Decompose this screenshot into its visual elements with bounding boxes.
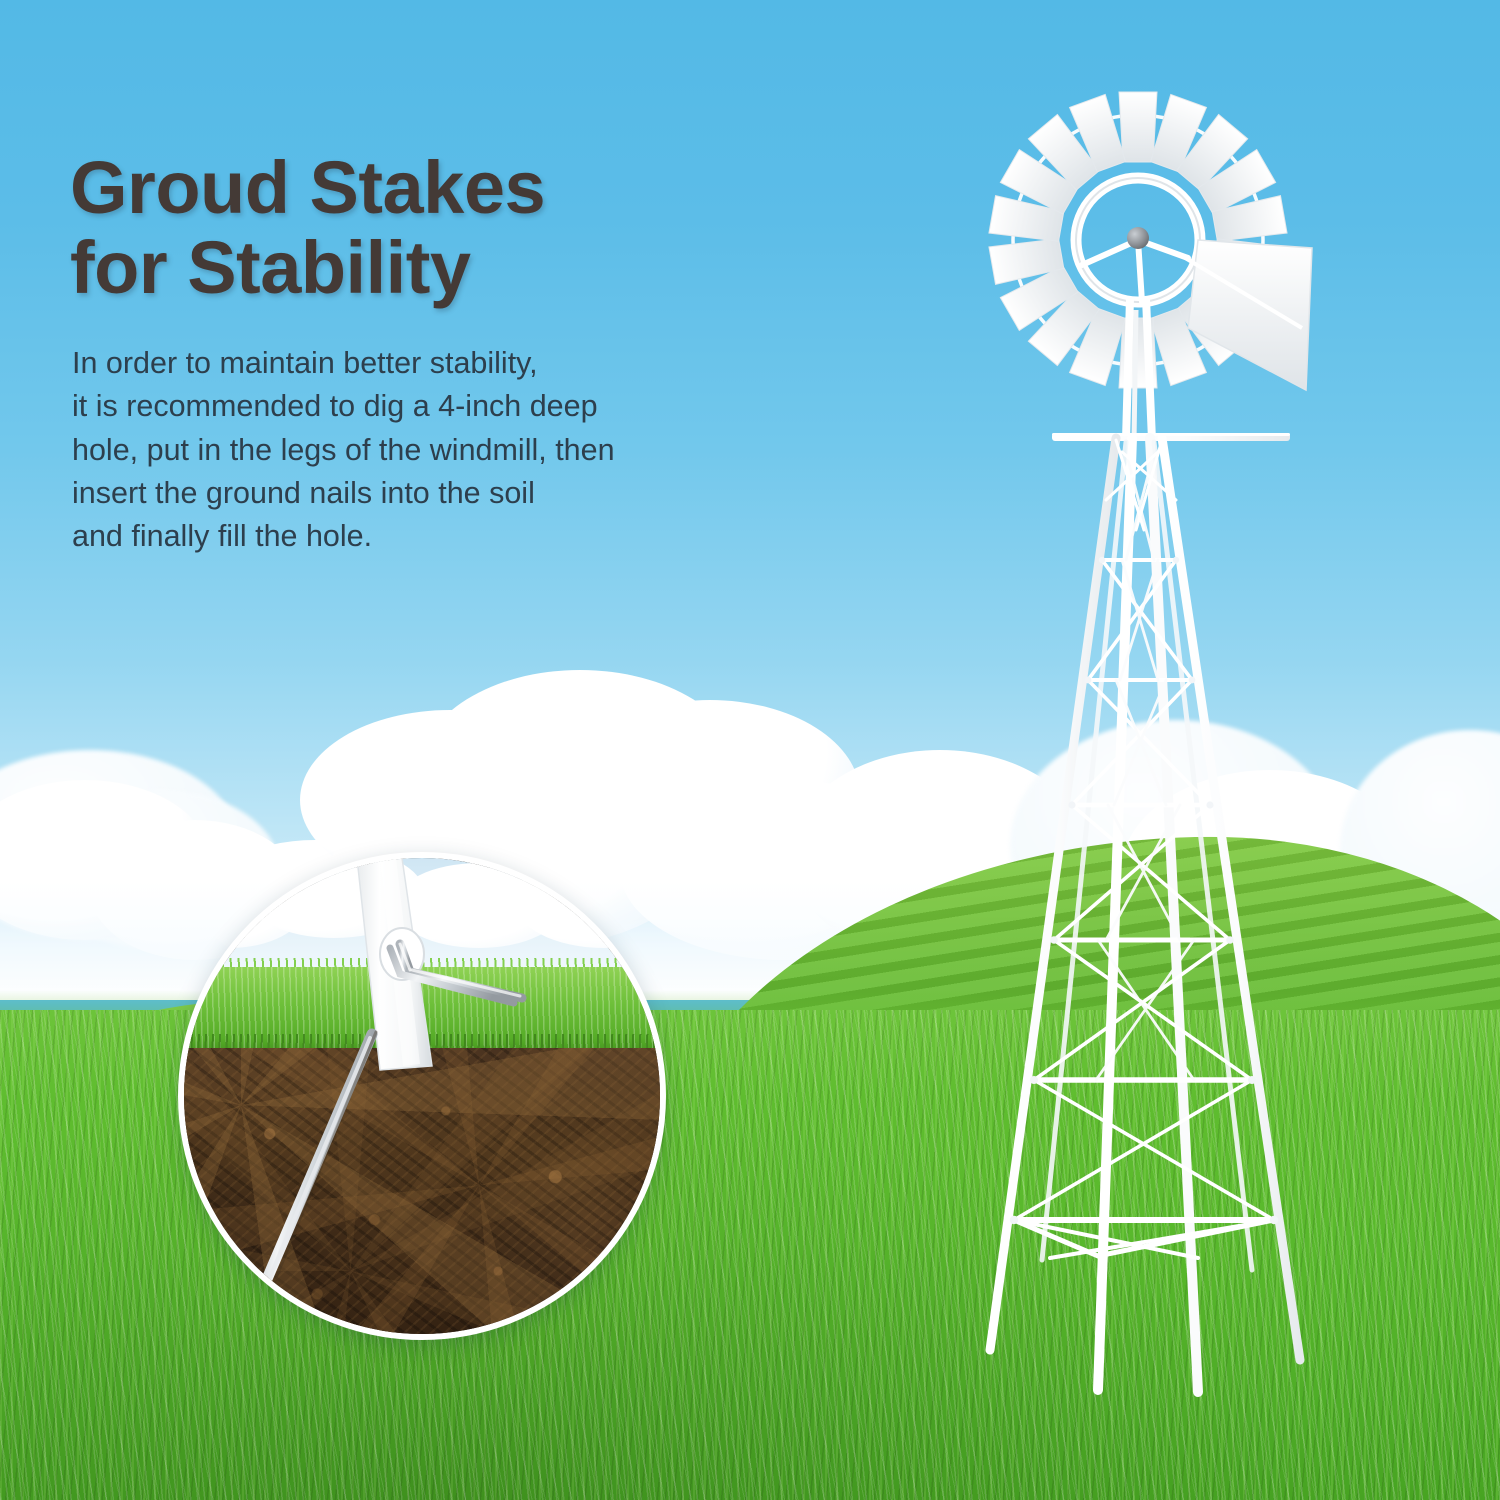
tower-leg xyxy=(990,438,1116,1350)
windmill-illustration xyxy=(930,60,1380,1400)
metal-garden-windmill xyxy=(930,60,1380,1400)
inset-hardware xyxy=(184,858,666,1340)
platform-bar xyxy=(1052,433,1290,441)
page-title: Groud Stakes for Stability xyxy=(70,148,830,308)
ground-stake-cross-section xyxy=(178,852,666,1340)
lattice-tower xyxy=(990,438,1300,1392)
description-text: In order to maintain better stability, i… xyxy=(72,342,812,558)
driven-ground-nail xyxy=(264,1032,376,1288)
hub-bolt xyxy=(1127,227,1149,249)
tower-base-frame xyxy=(1014,1220,1274,1258)
infographic-canvas: Groud Stakes for Stability In order to m… xyxy=(0,0,1500,1500)
